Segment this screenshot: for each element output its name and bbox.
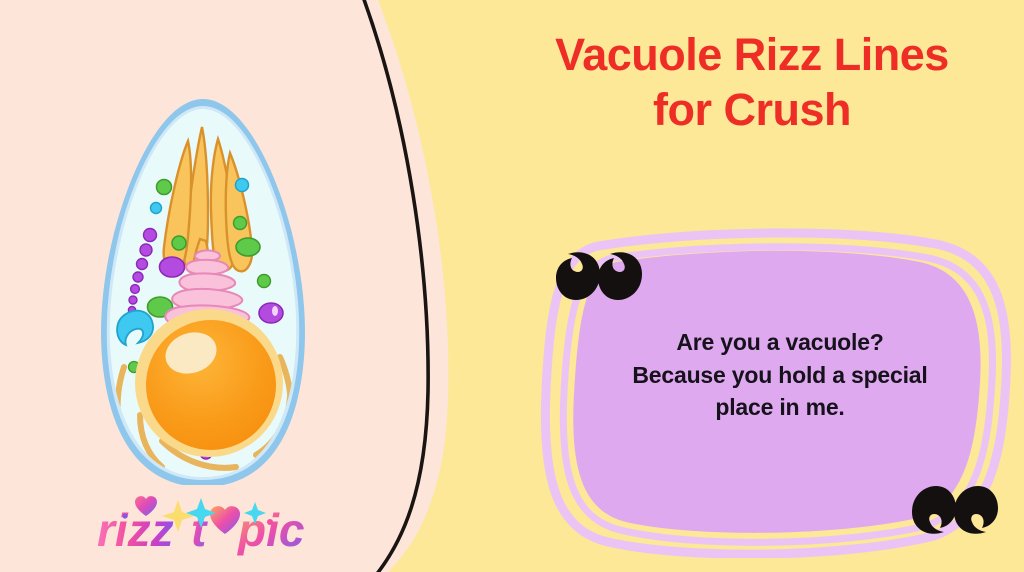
quote-line-3: place in me.	[596, 391, 964, 424]
heart-icon	[210, 506, 240, 534]
quote-text: Are you a vacuole? Because you hold a sp…	[596, 326, 964, 424]
poster-canvas: rizz t pic Vacuole Rizz Lines for Crush	[0, 0, 1024, 572]
logo-text-pic: pic	[236, 504, 304, 556]
quote-card: Are you a vacuole? Because you hold a sp…	[538, 228, 1016, 558]
quote-line-2: Because you hold a special	[596, 359, 964, 392]
sparkle-dot-icon	[267, 519, 273, 525]
title-line-1: Vacuole Rizz Lines	[492, 28, 1012, 83]
cell-illustration	[78, 95, 328, 485]
page-title: Vacuole Rizz Lines for Crush	[492, 28, 1012, 138]
rizztopic-logo[interactable]: rizz t pic	[95, 492, 310, 558]
divider-curve	[362, 0, 428, 572]
quote-line-1: Are you a vacuole?	[596, 326, 964, 359]
logo-text-rizz: rizz	[97, 504, 174, 556]
title-line-2: for Crush	[492, 83, 1012, 138]
sparkle-dot-icon	[122, 513, 127, 518]
